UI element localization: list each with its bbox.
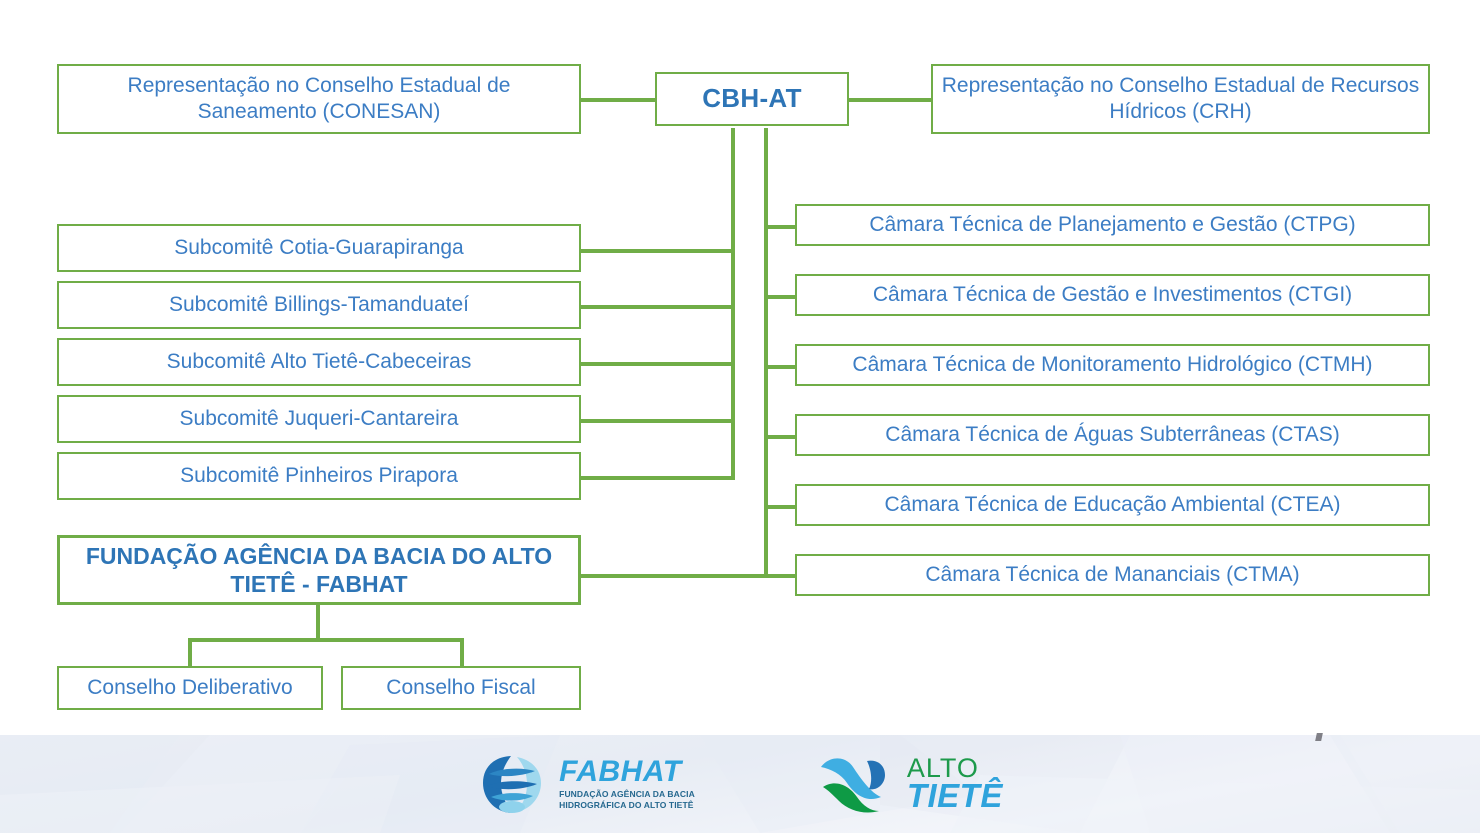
connector-council-fiscal bbox=[460, 638, 464, 668]
connector-chamber-1 bbox=[764, 225, 798, 229]
node-label: Câmara Técnica de Educação Ambiental (CT… bbox=[805, 492, 1420, 518]
node-chamber-ctea[interactable]: Câmara Técnica de Educação Ambiental (CT… bbox=[795, 484, 1430, 526]
connector-subcommittee-4 bbox=[578, 419, 735, 423]
node-label: Conselho Fiscal bbox=[351, 675, 571, 701]
node-subcommittee-alto-tiete-cabeceiras[interactable]: Subcomitê Alto Tietê-Cabeceiras bbox=[57, 338, 581, 386]
footer-logos: FABHAT FUNDAÇÃO AGÊNCIA DA BACIA HIDROGR… bbox=[0, 735, 1480, 833]
node-label: Subcomitê Cotia-Guarapiranga bbox=[67, 235, 571, 261]
node-label: Câmara Técnica de Planejamento e Gestão … bbox=[805, 212, 1420, 238]
connector-fabhat-to-trunk bbox=[578, 574, 800, 578]
node-label: Câmara Técnica de Monitoramento Hidrológ… bbox=[805, 352, 1420, 378]
fabhat-subtitle-line2: HIDROGRÁFICA DO ALTO TIETÊ bbox=[559, 800, 695, 811]
fabhat-logo: FABHAT FUNDAÇÃO AGÊNCIA DA BACIA HIDROGR… bbox=[477, 752, 695, 816]
node-agency-fabhat[interactable]: FUNDAÇÃO AGÊNCIA DA BACIA DO ALTO TIETÊ … bbox=[57, 535, 581, 605]
node-label: Subcomitê Juqueri-Cantareira bbox=[67, 406, 571, 432]
node-label: Subcomitê Alto Tietê-Cabeceiras bbox=[67, 349, 571, 375]
connector-subcommittee-3 bbox=[578, 362, 735, 366]
node-label: Câmara Técnica de Águas Subterrâneas (CT… bbox=[805, 422, 1420, 448]
connector-subcommittee-5 bbox=[578, 476, 735, 480]
connector-chamber-2 bbox=[764, 295, 798, 299]
fabhat-wave-icon bbox=[477, 752, 549, 816]
node-label: CBH-AT bbox=[665, 83, 839, 115]
connector-councils-bus bbox=[188, 638, 464, 642]
node-subcommittee-pinheiros-pirapora[interactable]: Subcomitê Pinheiros Pirapora bbox=[57, 452, 581, 500]
node-label: Câmara Técnica de Mananciais (CTMA) bbox=[805, 562, 1420, 588]
node-chamber-ctmh[interactable]: Câmara Técnica de Monitoramento Hidrológ… bbox=[795, 344, 1430, 386]
diagram-canvas: Representação no Conselho Estadual de Sa… bbox=[0, 0, 1480, 833]
node-chamber-ctas[interactable]: Câmara Técnica de Águas Subterrâneas (CT… bbox=[795, 414, 1430, 456]
trunk-right-vertical bbox=[764, 128, 768, 577]
connector-subcommittee-2 bbox=[578, 305, 735, 309]
connector-chamber-5 bbox=[764, 505, 798, 509]
fabhat-subtitle-line1: FUNDAÇÃO AGÊNCIA DA BACIA bbox=[559, 789, 695, 800]
connector-council-deliberativo bbox=[188, 638, 192, 668]
node-label: FUNDAÇÃO AGÊNCIA DA BACIA DO ALTO TIETÊ … bbox=[68, 542, 570, 598]
footer-band: FABHAT FUNDAÇÃO AGÊNCIA DA BACIA HIDROGR… bbox=[0, 735, 1480, 833]
node-label: Conselho Deliberativo bbox=[67, 675, 313, 701]
alto-tiete-wave-leaf-icon bbox=[815, 753, 893, 815]
connector-chamber-4 bbox=[764, 435, 798, 439]
node-subcommittee-billings-tamanduatei[interactable]: Subcomitê Billings-Tamanduateí bbox=[57, 281, 581, 329]
node-chamber-ctma[interactable]: Câmara Técnica de Mananciais (CTMA) bbox=[795, 554, 1430, 596]
node-label: Subcomitê Billings-Tamanduateí bbox=[67, 292, 571, 318]
connector-fabhat-stem bbox=[316, 604, 320, 640]
node-representation-crh[interactable]: Representação no Conselho Estadual de Re… bbox=[931, 64, 1430, 134]
node-subcommittee-juqueri-cantareira[interactable]: Subcomitê Juqueri-Cantareira bbox=[57, 395, 581, 443]
connector-root-to-crh bbox=[847, 98, 933, 102]
connector-subcommittee-1 bbox=[578, 249, 735, 253]
node-representation-conesan[interactable]: Representação no Conselho Estadual de Sa… bbox=[57, 64, 581, 134]
node-label: Câmara Técnica de Gestão e Investimentos… bbox=[805, 282, 1420, 308]
node-chamber-ctpg[interactable]: Câmara Técnica de Planejamento e Gestão … bbox=[795, 204, 1430, 246]
node-council-deliberativo[interactable]: Conselho Deliberativo bbox=[57, 666, 323, 710]
connector-chamber-3 bbox=[764, 365, 798, 369]
node-cbh-at-root[interactable]: CBH-AT bbox=[655, 72, 849, 126]
alto-tiete-logo: ALTO TIETÊ bbox=[815, 753, 1003, 815]
tiete-wordmark: TIETÊ bbox=[907, 780, 1003, 811]
node-chamber-ctgi[interactable]: Câmara Técnica de Gestão e Investimentos… bbox=[795, 274, 1430, 316]
node-label: Representação no Conselho Estadual de Re… bbox=[941, 73, 1420, 124]
trunk-left-vertical bbox=[731, 128, 735, 478]
node-subcommittee-cotia-guarapiranga[interactable]: Subcomitê Cotia-Guarapiranga bbox=[57, 224, 581, 272]
node-council-fiscal[interactable]: Conselho Fiscal bbox=[341, 666, 581, 710]
connector-conesan-to-root bbox=[578, 98, 658, 102]
node-label: Representação no Conselho Estadual de Sa… bbox=[67, 73, 571, 124]
fabhat-wordmark: FABHAT bbox=[559, 758, 695, 787]
node-label: Subcomitê Pinheiros Pirapora bbox=[67, 463, 571, 489]
